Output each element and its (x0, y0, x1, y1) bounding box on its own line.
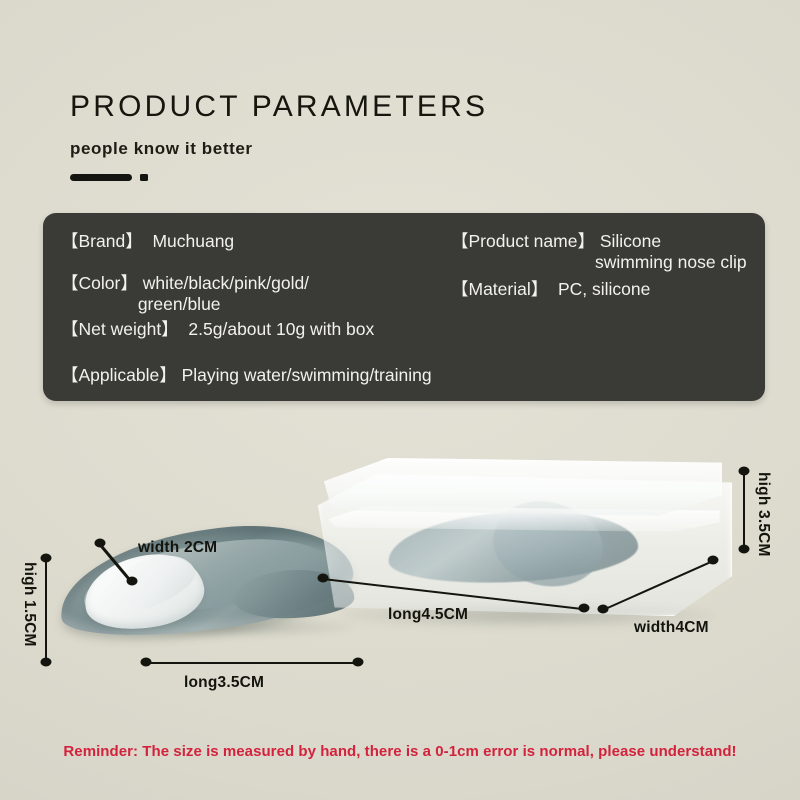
spec-row-product-name: 【Product name】 Silicone swimming nose cl… (451, 231, 747, 273)
storage-box-product-image (318, 450, 730, 625)
spec-value-product-name: Silicone swimming nose clip (595, 231, 747, 273)
spec-value-applicable: Playing water/swimming/training (177, 365, 432, 386)
measure-label-clip-length: long3.5CM (184, 674, 264, 692)
nose-clip-product-image (58, 530, 353, 640)
spec-key-applicable: 【Applicable】 (61, 365, 177, 386)
page-title: PRODUCT PARAMETERS (70, 92, 730, 122)
spec-value-material: PC, silicone (548, 279, 650, 300)
spec-row-applicable: 【Applicable】 Playing water/swimming/trai… (61, 365, 432, 386)
divider-bar-icon (70, 174, 132, 181)
spec-key-material: 【Material】 (451, 279, 548, 300)
measure-dot-clip-height-top (41, 554, 52, 563)
storage-box-lid (324, 458, 722, 516)
spec-row-brand: 【Brand】 Muchuang (61, 231, 234, 252)
spec-value-color: white/black/pink/gold/ green/blue (138, 273, 309, 315)
measure-dot-box-height-bottom (739, 545, 750, 554)
page-subtitle: people know it better (70, 140, 730, 157)
spec-key-brand: 【Brand】 (61, 231, 143, 252)
spec-row-material: 【Material】 PC, silicone (451, 279, 650, 300)
spec-key-net-weight: 【Net weight】 (61, 319, 179, 340)
spec-row-color: 【Color】 white/black/pink/gold/ green/blu… (61, 273, 309, 315)
product-photo-stage: high 1.5CM width 2CM long3.5CM high 3.5C… (0, 410, 800, 735)
measure-line-box-height (743, 472, 745, 550)
measure-dot-clip-height-bottom (41, 658, 52, 667)
specification-panel: 【Brand】 Muchuang 【Color】 white/black/pin… (43, 213, 765, 401)
spec-value-net-weight: 2.5g/about 10g with box (179, 319, 375, 340)
measure-line-clip-length (146, 662, 358, 664)
spec-row-net-weight: 【Net weight】 2.5g/about 10g with box (61, 319, 374, 340)
measure-label-clip-height: high 1.5CM (20, 562, 38, 647)
size-disclaimer-text: Reminder: The size is measured by hand, … (0, 743, 800, 760)
spec-key-color: 【Color】 (61, 273, 138, 294)
spec-value-brand: Muchuang (143, 231, 234, 252)
measure-dot-clip-length-right (353, 658, 364, 667)
measure-dot-box-height-top (739, 467, 750, 476)
dash-dot-divider-icon (70, 174, 730, 181)
measure-dot-clip-length-left (141, 658, 152, 667)
divider-dot-icon (140, 174, 148, 181)
spec-key-product-name: 【Product name】 (451, 231, 595, 252)
measure-label-box-height: high 3.5CM (754, 472, 772, 557)
measure-line-clip-height (45, 559, 47, 663)
page-header: PRODUCT PARAMETERS people know it better (70, 92, 730, 181)
